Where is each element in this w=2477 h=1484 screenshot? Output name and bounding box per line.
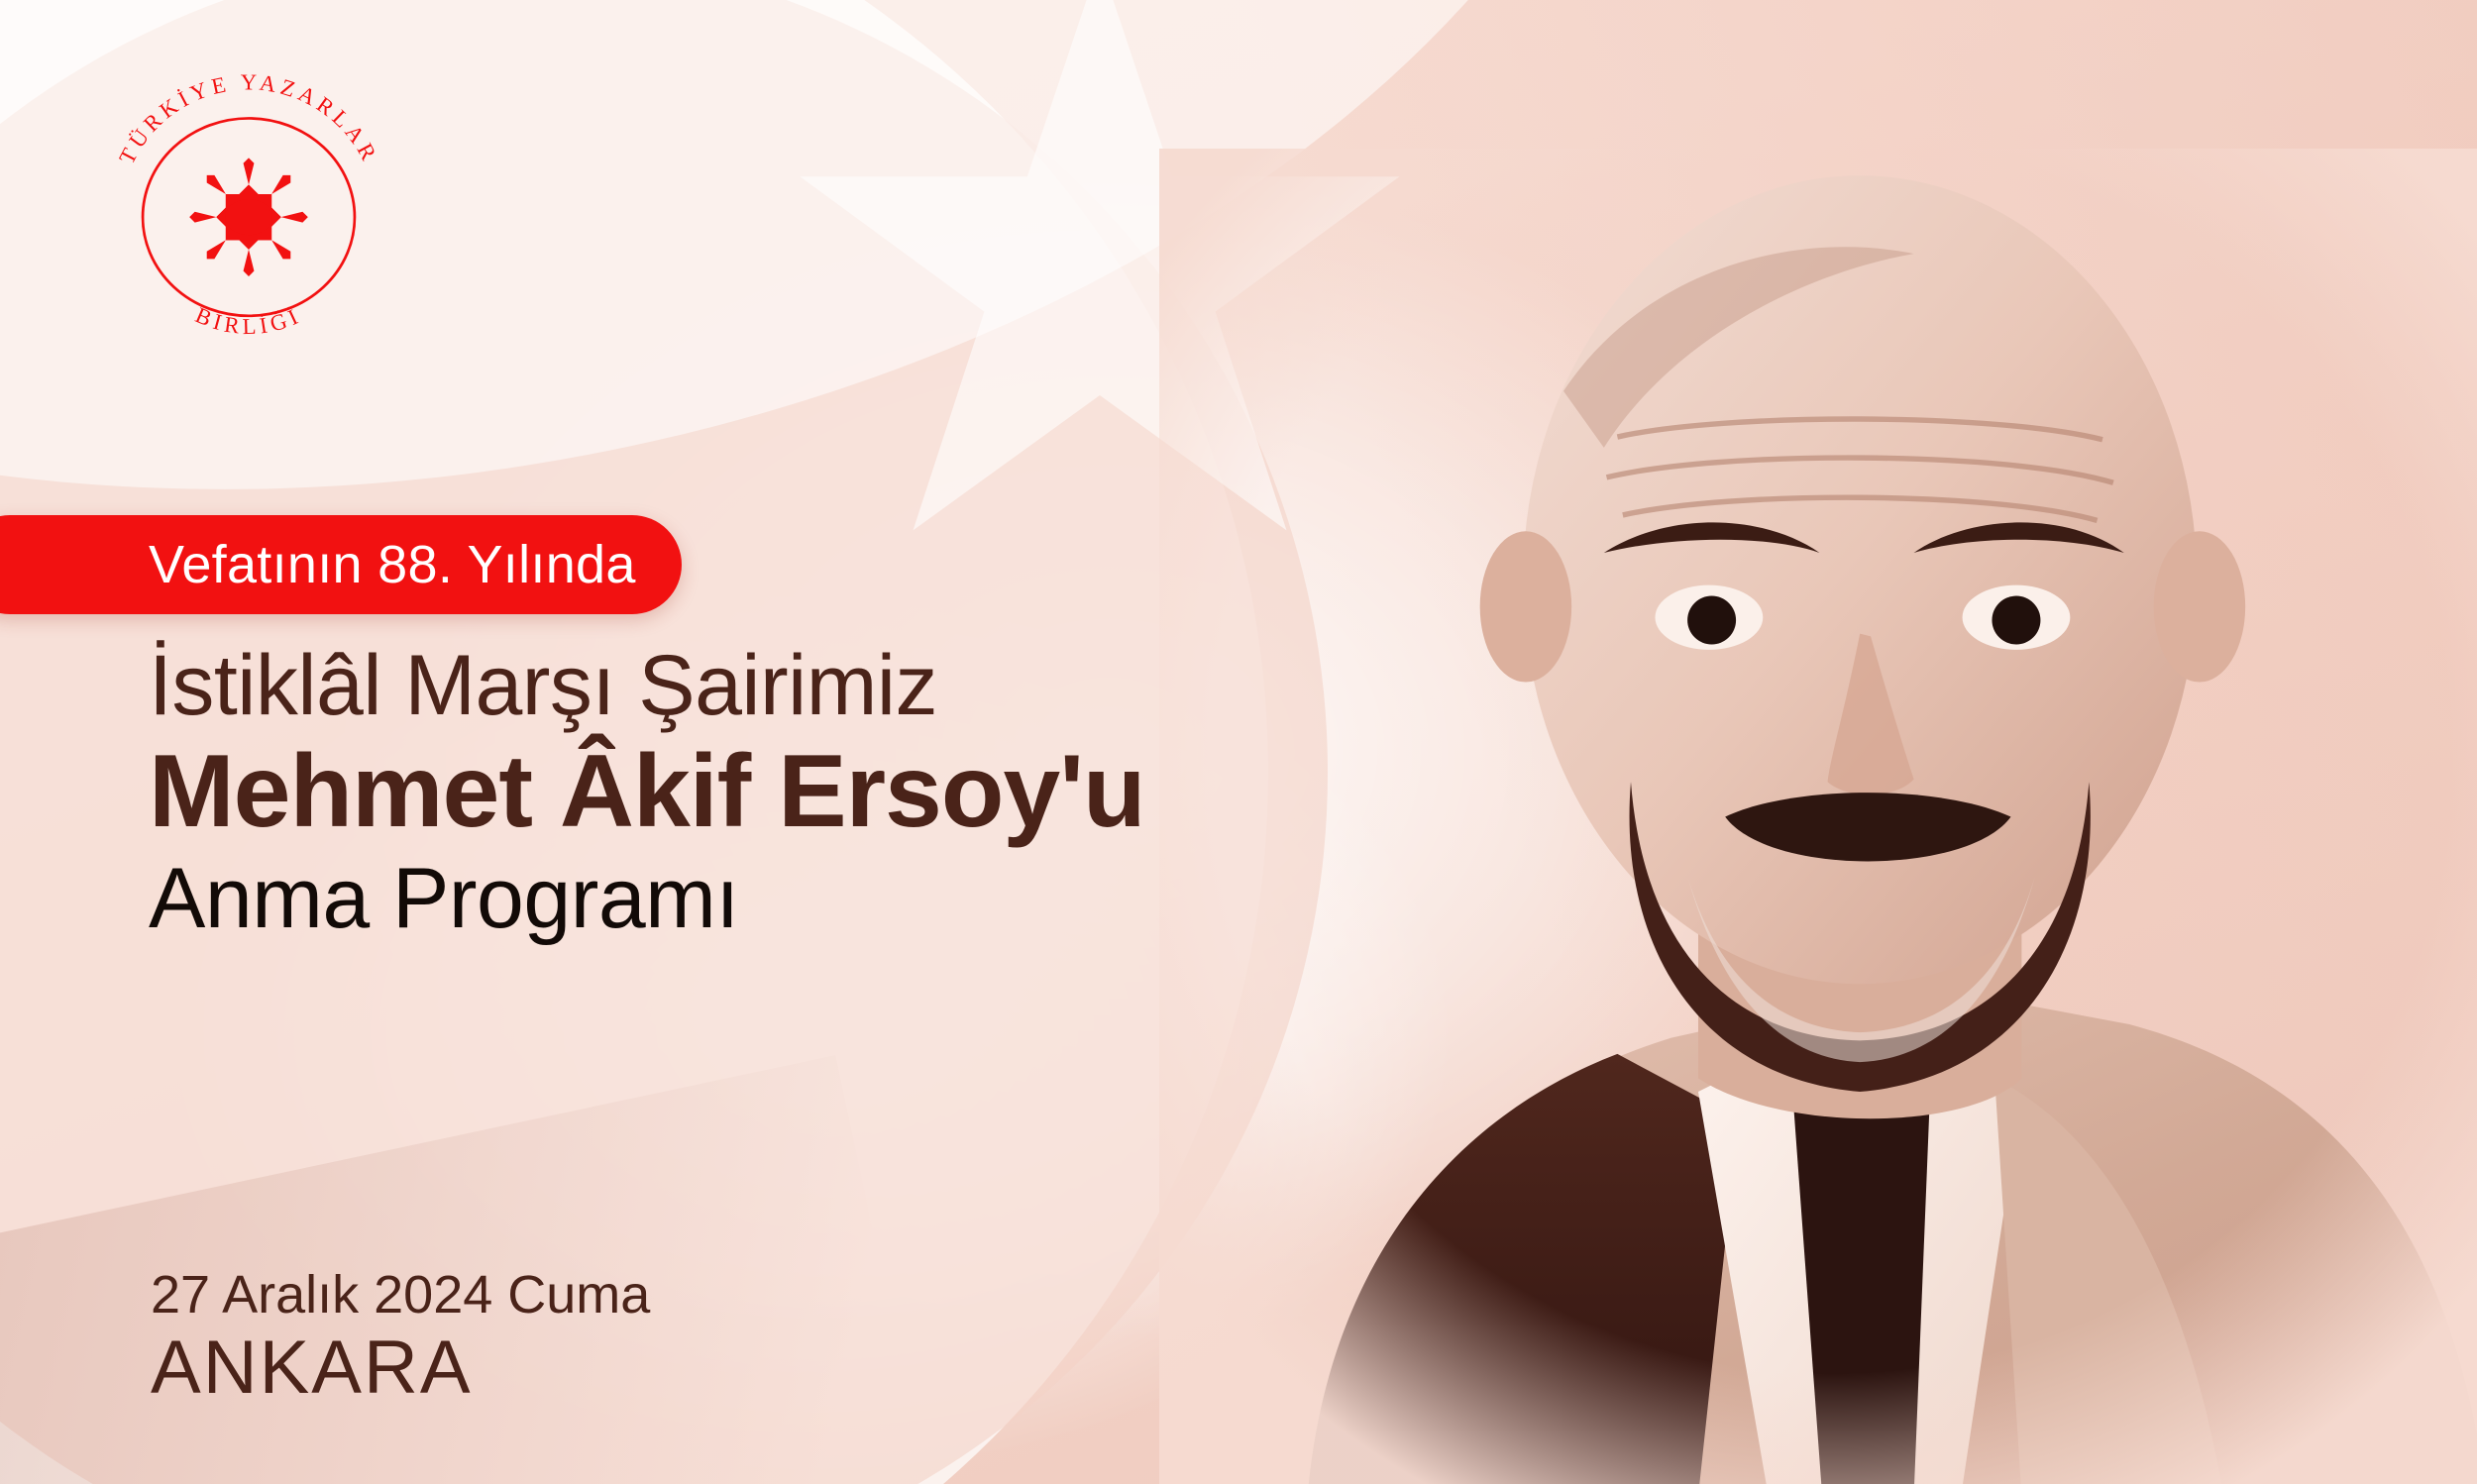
svg-text:BİRLİĞİ: BİRLİĞİ (192, 302, 306, 339)
event-city: ANKARA (151, 1328, 650, 1409)
headline-program: Anma Programı (149, 854, 1496, 944)
headline-block: İstiklâl Marşı Şairimiz Mehmet Âkif Erso… (149, 642, 1496, 944)
event-details: 27 Aralık 2024 Cuma ANKARA (151, 1266, 650, 1409)
poster-canvas: TÜRKİYE YAZARLAR BİRLİĞİ Vefatının 88. Y… (0, 0, 2477, 1484)
logo-turkiye-yazarlar-birligi: TÜRKİYE YAZARLAR BİRLİĞİ (95, 55, 402, 343)
anniversary-badge: Vefatının 88. Yılında (0, 515, 682, 614)
headline-name: Mehmet Âkif Ersoy'u (149, 736, 1496, 847)
anniversary-badge-label: Vefatının 88. Yılında (149, 534, 636, 595)
headline-subtitle: İstiklâl Marşı Şairimiz (149, 642, 1496, 730)
logo-ring-text-bottom: BİRLİĞİ (192, 302, 306, 339)
event-date: 27 Aralık 2024 Cuma (151, 1266, 650, 1325)
